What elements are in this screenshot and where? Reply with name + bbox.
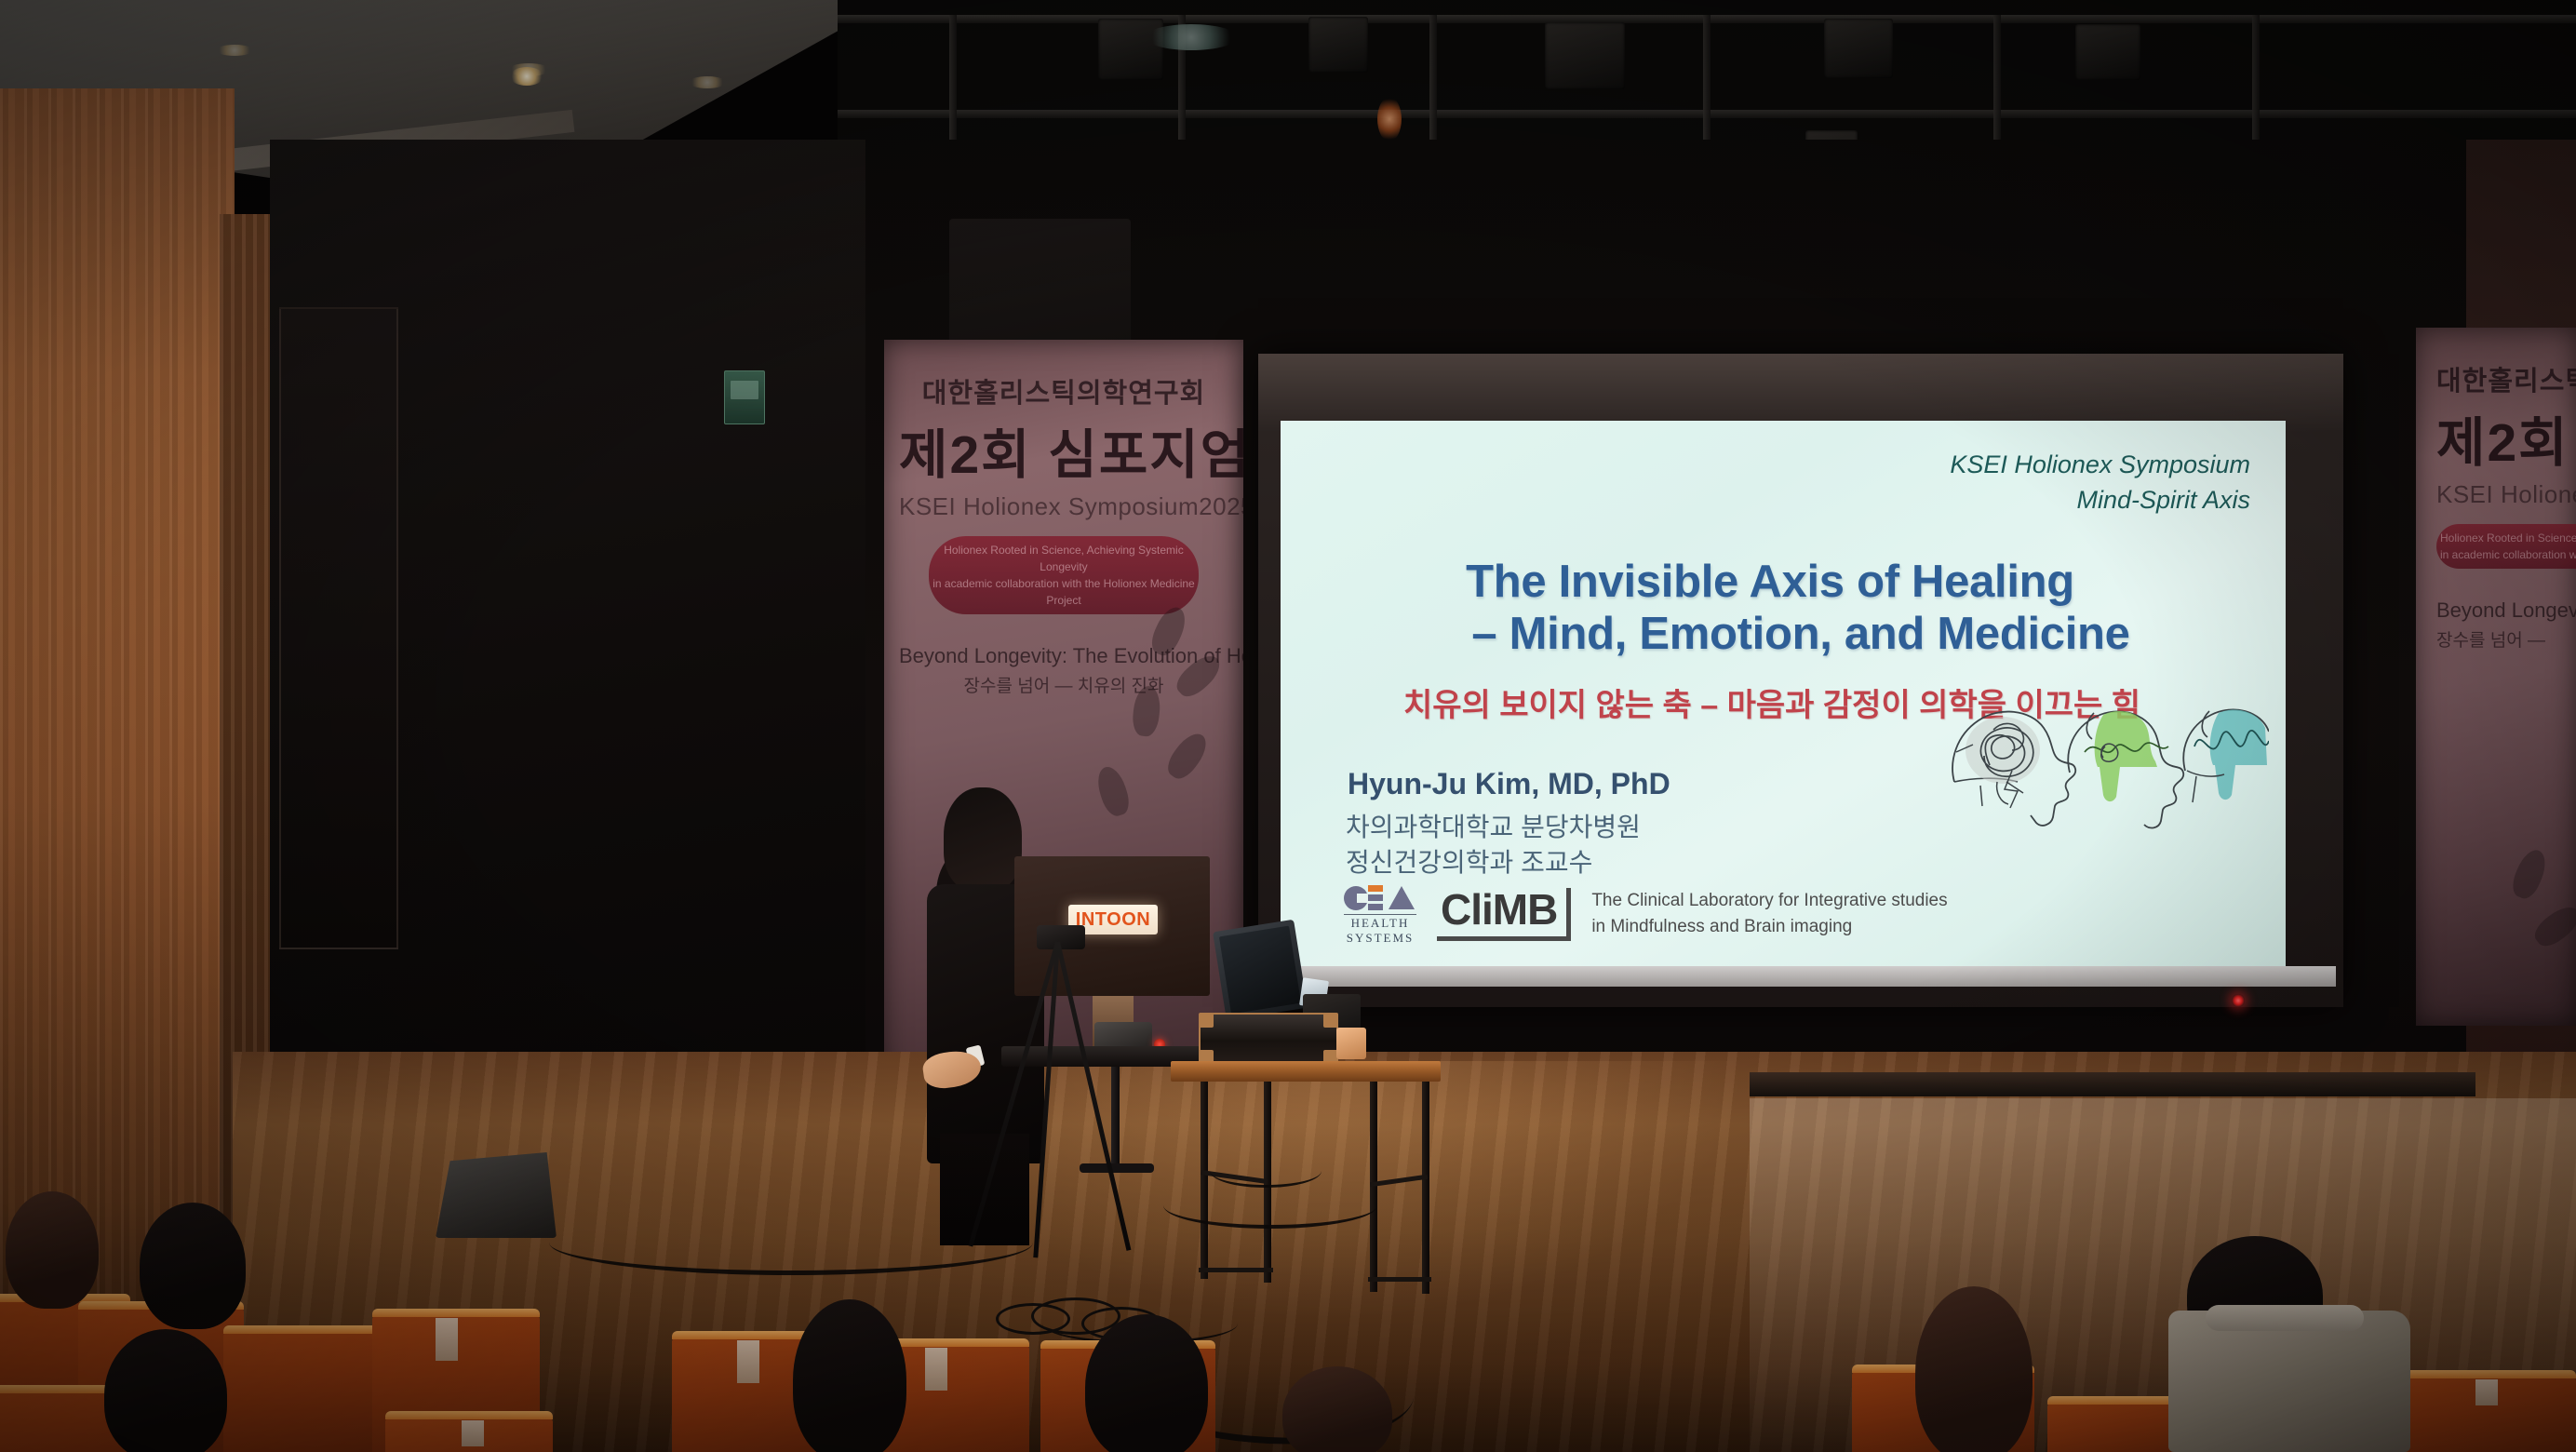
banner-right-line1: 대한홀리스틱 <box>2436 359 2561 398</box>
audience-seat <box>223 1331 382 1452</box>
cha-sub-line1: HEALTH <box>1344 914 1416 931</box>
three-heads-mind-states-icon <box>1945 692 2269 832</box>
banner-right-pill: Holionex Rooted in Science in academic c… <box>2436 524 2576 569</box>
audience-head <box>104 1329 227 1452</box>
presenter-hair <box>944 787 1022 892</box>
podium-brand-text: INTOON <box>1076 909 1150 931</box>
equipment-table <box>1171 1061 1441 1082</box>
table-brace <box>1368 1277 1431 1282</box>
banner-left-line1: 대한홀리스틱의학연구회 <box>899 371 1228 410</box>
floor-cable <box>1210 1154 1322 1188</box>
stage-door[interactable] <box>279 307 398 949</box>
seat-number-tag <box>925 1348 947 1391</box>
tripod-leg <box>1055 941 1131 1250</box>
projection-screen-frame: KSEI Holionex Symposium Mind-Spirit Axis… <box>1258 354 2343 1007</box>
tripod-leg <box>1033 942 1060 1258</box>
climb-desc-line2: in Mindfulness and Brain imaging <box>1591 914 1947 941</box>
banner-left-pill-line2: in academic collaboration with the Holio… <box>932 575 1195 609</box>
slide-author: Hyun-Ju Kim, MD, PhD <box>1348 767 1670 801</box>
table-leg <box>1422 1082 1429 1294</box>
cha-mark-icon <box>1344 882 1416 914</box>
wood-slat-wall-left <box>0 88 235 1382</box>
banner-right-pill-line1: Holionex Rooted in Science <box>2440 530 2576 546</box>
banner-left-tagline-en: Beyond Longevity: The Evolution of Heali… <box>899 644 1228 668</box>
banner-left-pill-line1: Holionex Rooted in Science, Achieving Sy… <box>932 542 1195 575</box>
audience-head <box>6 1191 99 1309</box>
banner-right-line2: 제2회 심 <box>2436 400 2561 477</box>
audience-seat <box>385 1417 553 1452</box>
confidence-monitor <box>1213 920 1308 1021</box>
audience-head <box>1282 1366 1392 1452</box>
slide-header-line2: Mind-Spirit Axis <box>1950 482 2250 518</box>
seat-number-tag <box>2475 1379 2498 1405</box>
coat-collar <box>2206 1305 2364 1331</box>
cha-sub-line2: SYSTEMS <box>1344 931 1416 946</box>
draped-coat <box>2168 1311 2410 1452</box>
banner-left-line3: KSEI Holionex Symposium2025 <box>899 492 1228 521</box>
seat-number-tag <box>436 1318 458 1361</box>
cha-health-systems-logo: HEALTH SYSTEMS <box>1344 882 1416 946</box>
ceiling-downlight <box>216 45 253 56</box>
climb-logo: CliMB <box>1437 888 1571 941</box>
auditorium-scene: 대한홀리스틱의학연구회 제2회 심포지엄 KSEI Holionex Sympo… <box>0 0 2576 1452</box>
audience-head <box>793 1299 906 1452</box>
slide-title-line2: – Mind, Emotion, and Medicine <box>1281 609 2260 661</box>
slide-affiliation-line1: 차의과학대학교 분당차병원 <box>1346 810 1641 845</box>
floor-cable <box>549 1210 1033 1275</box>
banner-right-line3: KSEI Holionex Sym <box>2436 480 2561 509</box>
stage-floor-monitor <box>436 1152 557 1238</box>
slide-title-line1: The Invisible Axis of Healing <box>1466 557 2074 607</box>
camera-tripod <box>959 942 1163 1333</box>
banner-right-tagline-ko: 장수를 넘어 — <box>2436 626 2561 652</box>
climb-description: The Clinical Laboratory for Integrative … <box>1591 888 1947 941</box>
slide-header-line1: KSEI Holionex Symposium <box>1950 447 2250 482</box>
audience-head <box>1915 1286 2033 1452</box>
table-leg <box>1201 1082 1208 1279</box>
laser-pointer-dot <box>2232 994 2245 1007</box>
climb-desc-line1: The Clinical Laboratory for Integrative … <box>1591 888 1947 915</box>
floor-cable <box>1163 1182 1377 1229</box>
audience-head <box>140 1203 246 1329</box>
emergency-exit-sign <box>724 370 765 424</box>
seat-number-tag <box>462 1420 484 1446</box>
seat-number-tag <box>737 1340 759 1383</box>
ceiling-downlight-lit <box>510 67 543 86</box>
power-battery-pack <box>1336 1028 1366 1059</box>
banner-right-pill-line2: in academic collaboration with <box>2440 546 2576 563</box>
presentation-slide: KSEI Holionex Symposium Mind-Spirit Axis… <box>1281 421 2286 981</box>
audience-seat <box>2392 1376 2576 1452</box>
stage-edge <box>1750 1072 2475 1096</box>
banner-left-pill: Holionex Rooted in Science, Achieving Sy… <box>929 536 1199 614</box>
table-brace <box>1199 1268 1273 1272</box>
audience-head <box>1085 1314 1208 1452</box>
slide-affiliation-line2: 정신건강의학과 조교수 <box>1346 845 1641 881</box>
flight-case <box>1199 1013 1338 1065</box>
slide-affiliation: 차의과학대학교 분당차병원 정신건강의학과 조교수 <box>1346 810 1641 880</box>
screen-bottom-bar <box>1266 966 2336 987</box>
banner-right-tagline-en: Beyond Longevity: The <box>2436 598 2561 623</box>
monitor-screen <box>1219 926 1301 1015</box>
slide-title: The Invisible Axis of Healing – Mind, Em… <box>1281 557 2260 661</box>
slide-footer-logos: HEALTH SYSTEMS CliMB The Clinical Labora… <box>1344 882 1948 946</box>
slide-header: KSEI Holionex Symposium Mind-Spirit Axis <box>1950 447 2250 518</box>
symposium-banner-right: 대한홀리스틱 제2회 심 KSEI Holionex Sym Holionex … <box>2416 328 2576 1026</box>
ceiling-downlight <box>689 76 726 88</box>
banner-left-line2: 제2회 심포지엄 <box>899 412 1228 489</box>
